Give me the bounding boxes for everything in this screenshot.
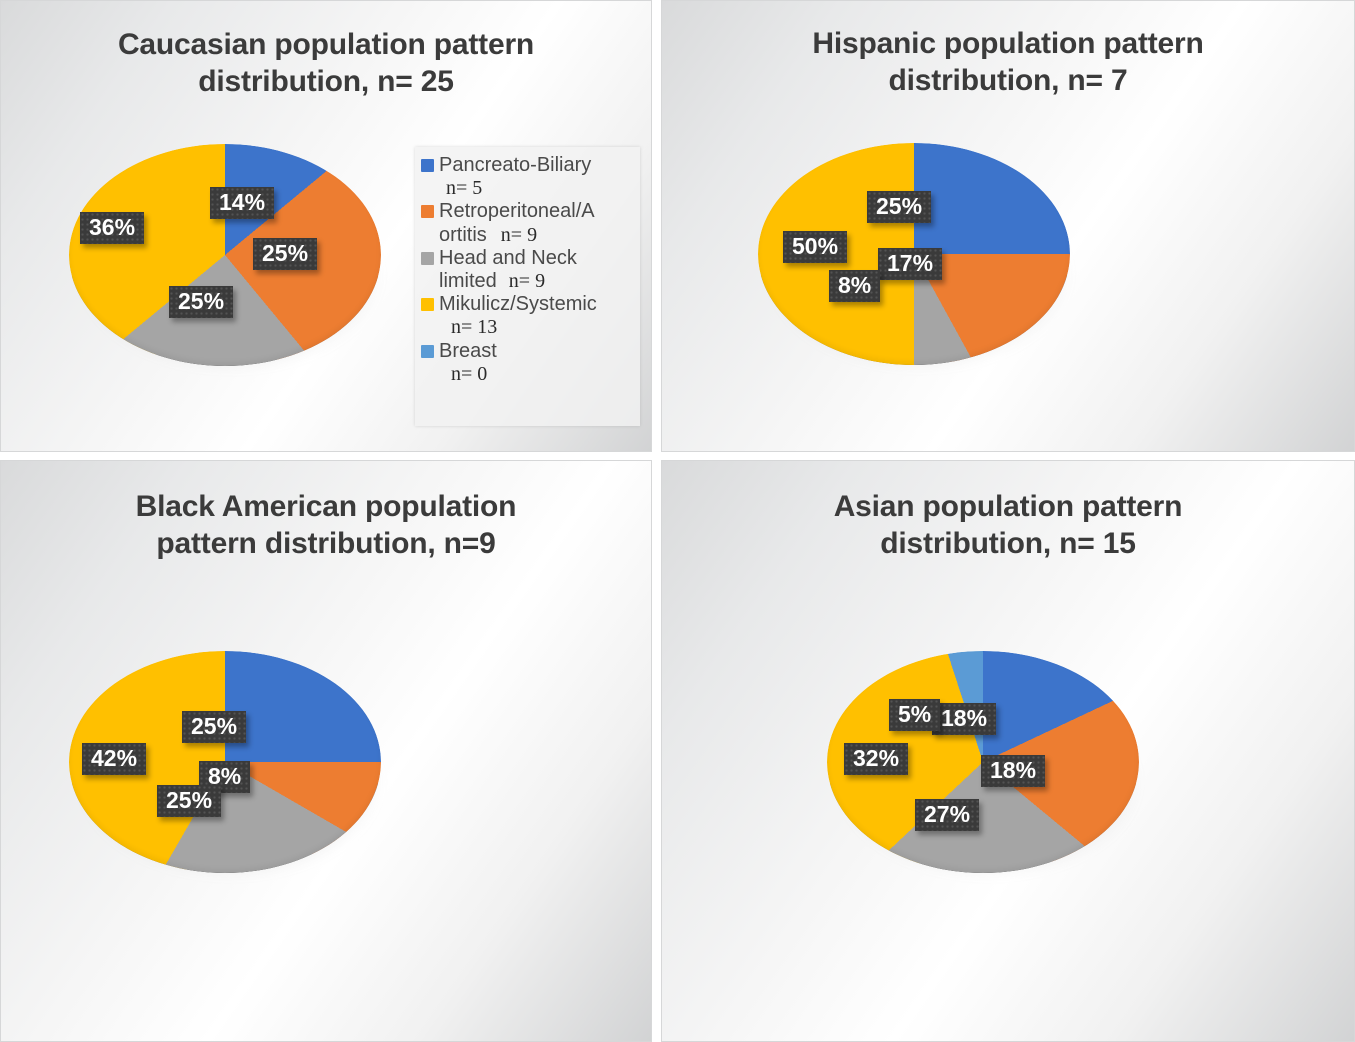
legend-item[interactable]: Mikulicz/Systemic n= 13: [421, 293, 636, 339]
slice-label-retroperitoneal: 17%: [878, 248, 942, 280]
column-gap-bottom: [652, 460, 661, 1042]
column-gap-top: [652, 0, 661, 452]
chart-title-hispanic: Hispanic population pattern distribution…: [662, 26, 1354, 99]
pie-caucasian: 14% 25% 25% 36%: [69, 144, 381, 366]
slice-label-retroperitoneal: 18%: [981, 755, 1045, 787]
figure-grid: Caucasian population pattern distributio…: [0, 0, 1355, 1042]
slice-label-mikulicz: 32%: [844, 743, 908, 775]
panel-caucasian: Caucasian population pattern distributio…: [0, 0, 652, 452]
title-line-2: distribution, n= 7: [662, 63, 1354, 100]
center-gap: [652, 452, 661, 460]
title-line-2: distribution, n= 25: [1, 64, 651, 101]
slice-label-head-neck: 25%: [169, 286, 233, 318]
legend-n-value: n= 13: [421, 316, 636, 339]
slice-label-pancreato-biliary: 18%: [932, 703, 996, 735]
slice-label-breast: 5%: [889, 699, 940, 731]
row-gap-right: [661, 452, 1355, 460]
legend-swatch-breast: [421, 345, 434, 358]
legend-item[interactable]: Retroperitoneal/A ortitis n= 9: [421, 200, 636, 246]
slice-label-pancreato-biliary: 25%: [182, 711, 246, 743]
slice-label-pancreato-biliary: 14%: [210, 187, 274, 219]
legend-n-value: n= 9: [487, 224, 537, 247]
chart-title-caucasian: Caucasian population pattern distributio…: [1, 27, 651, 100]
title-line-1: Black American population: [1, 489, 651, 526]
legend-swatch-pancreato-biliary: [421, 159, 434, 172]
legend-label: Retroperitoneal/A: [439, 200, 595, 223]
pie-top-surface: [69, 144, 381, 366]
legend-n-value: n= 0: [421, 363, 636, 386]
legend-caucasian: Pancreato-Biliary n= 5 Retroperitoneal/A…: [415, 147, 640, 426]
title-line-1: Caucasian population pattern: [1, 27, 651, 64]
legend-swatch-retroperitoneal: [421, 205, 434, 218]
chart-title-black-american: Black American population pattern distri…: [1, 489, 651, 562]
slice-label-pancreato-biliary: 25%: [867, 191, 931, 223]
legend-label: Pancreato-Biliary: [439, 154, 591, 177]
slice-label-mikulicz: 36%: [80, 212, 144, 244]
slice-label-mikulicz: 42%: [82, 743, 146, 775]
title-line-1: Asian population pattern: [662, 489, 1354, 526]
slice-label-retroperitoneal: 25%: [253, 238, 317, 270]
legend-item[interactable]: Pancreato-Biliary n= 5: [421, 154, 636, 200]
pie-asian: 18% 18% 27% 32% 5%: [827, 651, 1139, 873]
legend-swatch-head-neck: [421, 252, 434, 265]
legend-label: Head and Neck: [439, 247, 577, 270]
pie-hispanic: 25% 17% 8% 50%: [758, 143, 1070, 365]
panel-asian: Asian population pattern distribution, n…: [661, 460, 1355, 1042]
slice-label-head-neck: 25%: [157, 785, 221, 817]
chart-title-asian: Asian population pattern distribution, n…: [662, 489, 1354, 562]
pie-3d-body: [69, 144, 381, 366]
panel-black-american: Black American population pattern distri…: [0, 460, 652, 1042]
legend-item[interactable]: Head and Neck limited n= 9: [421, 247, 636, 293]
legend-swatch-mikulicz: [421, 298, 434, 311]
legend-label: Mikulicz/Systemic: [439, 293, 597, 316]
legend-item[interactable]: Breast n= 0: [421, 340, 636, 386]
title-line-2: distribution, n= 15: [662, 526, 1354, 563]
panel-hispanic: Hispanic population pattern distribution…: [661, 0, 1355, 452]
title-line-2: pattern distribution, n=9: [1, 526, 651, 563]
legend-label: Breast: [439, 340, 497, 363]
legend-n-value: n= 9: [497, 270, 545, 293]
slice-label-head-neck: 27%: [915, 799, 979, 831]
slice-label-mikulicz: 50%: [783, 231, 847, 263]
legend-label-cont: limited: [439, 270, 497, 293]
row-gap-left: [0, 452, 652, 460]
legend-n-value: n= 5: [421, 177, 636, 200]
pie-black-american: 25% 8% 25% 42%: [69, 651, 381, 873]
title-line-1: Hispanic population pattern: [662, 26, 1354, 63]
slice-label-head-neck: 8%: [829, 270, 880, 302]
legend-label-cont: ortitis: [439, 224, 487, 247]
